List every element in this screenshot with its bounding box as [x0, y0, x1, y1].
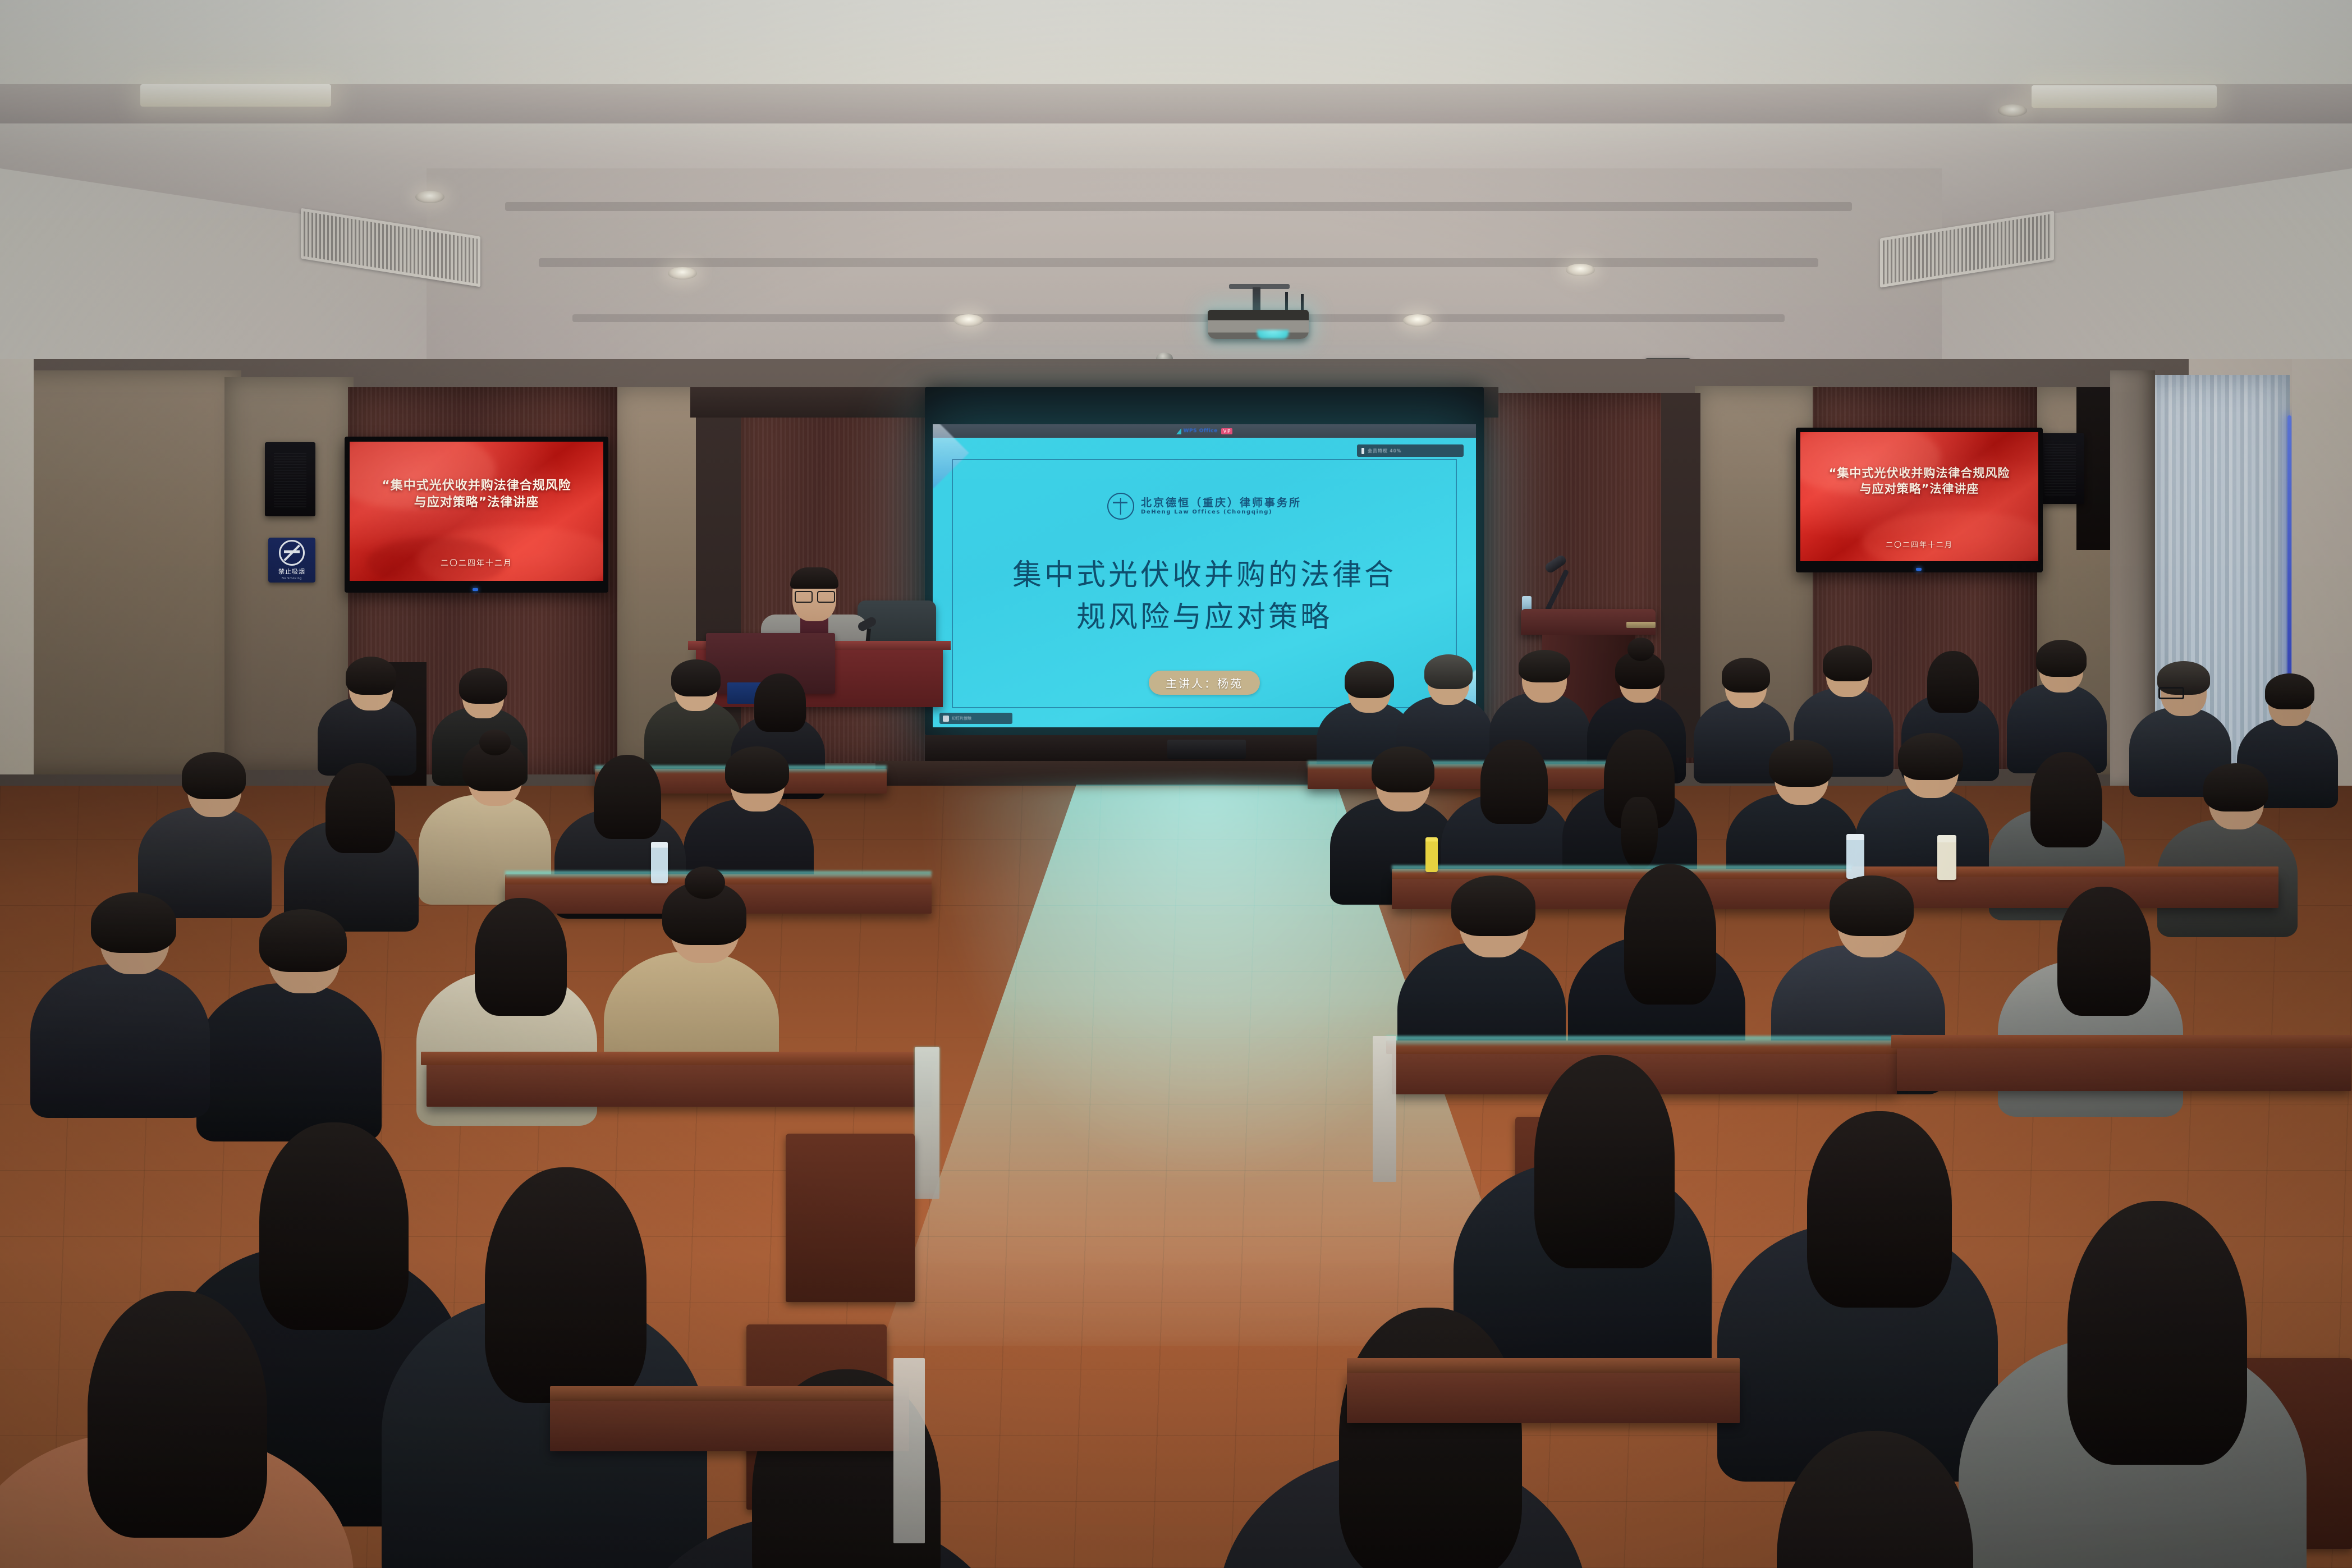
ceiling-recess-line [572, 314, 1785, 322]
ceiling-band [0, 84, 2352, 123]
person-hair [346, 657, 396, 695]
wps-logo: WPS Office [1176, 428, 1218, 434]
person-hair [2203, 763, 2268, 811]
person-hair-bun [479, 730, 511, 755]
person-hair [475, 898, 567, 1016]
person-hair [1823, 645, 1872, 681]
wall-speaker-left [265, 442, 315, 516]
sign-label-en: No Smoking [282, 577, 302, 580]
person-hair [754, 673, 806, 732]
led-strip-light [2287, 415, 2291, 685]
person-hair [1345, 661, 1394, 698]
person-hair [2030, 752, 2102, 847]
ceiling-recess-line [505, 202, 1852, 211]
slide-notification-tooltip[interactable]: 会员特权 40% [1357, 444, 1464, 457]
tv-right: “集中式光伏收并购法律合规风险 与应对策略”法律讲座 二〇二四年十二月 [1796, 428, 2043, 572]
drink-bottle [1937, 835, 1956, 880]
bench-light-edge [1386, 1036, 1902, 1045]
wall-gap-dark [1661, 393, 1700, 758]
person-shoulders [30, 964, 210, 1118]
ceiling-light-panel-right [2032, 85, 2217, 108]
downlight [1566, 264, 1595, 276]
wps-triangle-icon [1176, 428, 1181, 434]
presenter-hair [790, 567, 838, 589]
bench-desk-near-left [427, 1061, 932, 1107]
person-hair [325, 763, 395, 853]
wps-app-label: WPS Office [1184, 428, 1218, 434]
person-hair [1722, 658, 1770, 693]
person-hair [1534, 1055, 1675, 1268]
no-smoking-icon [279, 540, 305, 566]
person-hair [725, 746, 789, 794]
person-hair [259, 1122, 409, 1330]
bench-desk-foreground-right [1347, 1373, 1740, 1423]
tv-right-title-line1: “集中式光伏收并购法律合规风险 [1810, 466, 2029, 482]
podium-nameplate [1626, 622, 1656, 628]
bench-desk-mid-far-right [1852, 873, 2278, 908]
downlight [1403, 314, 1432, 327]
slide-firm-logo: 北京德恒（重庆）律师事务所 DeHeng Law Offices (Chongq… [933, 493, 1476, 520]
person-hair [594, 755, 661, 839]
slideshow-label: 幻灯片放映 [952, 716, 971, 721]
person-hair [1624, 864, 1716, 1005]
tooltip-text: 会员特权 40% [1368, 448, 1401, 454]
ceiling-recess-line [539, 258, 1818, 267]
water-bottle [1846, 834, 1864, 879]
wall-stone-panel-far-left [0, 370, 241, 774]
tv-right-power-led [1916, 568, 1922, 571]
bench-end-panel [1373, 1036, 1396, 1182]
stage-speaker-cabinet [1167, 740, 1246, 759]
tv-left-banner-text: “集中式光伏收并购法律合规风险 与应对策略”法律讲座 [360, 478, 593, 510]
person-hair [88, 1291, 267, 1538]
water-bottle [651, 842, 668, 883]
tv-left-title-line1: “集中式光伏收并购法律合规风险 [360, 478, 593, 494]
left-wall-edge [0, 359, 34, 774]
person-hair-bun [685, 866, 725, 899]
tooltip-icon [1361, 448, 1364, 454]
person-hair [2036, 640, 2087, 677]
downlight [954, 314, 983, 327]
person-hair-grey [1424, 654, 1473, 689]
person-hair [91, 892, 176, 953]
person-hair [2265, 673, 2314, 709]
tv-left-screen: “集中式光伏收并购法律合规风险 与应对策略”法律讲座 二〇二四年十二月 [350, 442, 603, 581]
tv-left-power-led [473, 588, 478, 591]
person-hair-bun [1627, 638, 1654, 661]
tv-right-date: 二〇二四年十二月 [1800, 539, 2038, 549]
slide-app-toolbar[interactable]: WPS Office VIP [933, 424, 1476, 438]
tv-left-date: 二〇二四年十二月 [350, 557, 603, 568]
person-hair [1898, 733, 1963, 780]
person-hair [1451, 875, 1535, 936]
tv-left: “集中式光伏收并购法律合规风险 与应对策略”法律讲座 二〇二四年十二月 [345, 437, 608, 593]
bench-end-panel-foreground [893, 1358, 925, 1543]
chair-back-left [786, 1134, 915, 1302]
tv-right-banner-text: “集中式光伏收并购法律合规风险 与应对策略”法律讲座 [1810, 466, 2029, 497]
bench-desk-top [421, 1052, 937, 1065]
person-hair [259, 909, 347, 972]
person-hair [485, 1167, 647, 1403]
downlight [668, 267, 697, 279]
person-hair [459, 668, 507, 704]
highlighter-marker [1425, 837, 1438, 872]
wall-speaker-right [2036, 433, 2084, 504]
wps-vip-badge[interactable]: VIP [1221, 428, 1233, 434]
sign-label-cn: 禁止吸烟 [278, 567, 305, 576]
projection-screen: WPS Office VIP 会员特权 40% 北京德恒（重庆）律师事务所 De… [933, 424, 1476, 727]
slideshow-control-bar[interactable]: 幻灯片放映 [939, 713, 1012, 724]
downlight [415, 191, 444, 203]
person-hair [1927, 651, 1979, 713]
person-hair [1372, 746, 1434, 792]
firm-name-block: 北京德恒（重庆）律师事务所 DeHeng Law Offices (Chongq… [1141, 497, 1301, 516]
person-hair [182, 752, 246, 799]
tv-right-title-line2: 与应对策略”法律讲座 [1810, 482, 2029, 497]
person-hair [1519, 650, 1570, 682]
scales-of-justice-icon [1107, 493, 1134, 520]
eyeglasses-icon [2158, 687, 2184, 699]
bench-light-edge [1392, 865, 1852, 872]
slide-speaker-row: 主讲人：杨苑 [933, 671, 1476, 695]
ceiling-light-panel-left [140, 84, 331, 107]
person-hair [2067, 1201, 2247, 1465]
person-hair [1830, 875, 1914, 936]
firm-name-cn: 北京德恒（重庆）律师事务所 [1141, 497, 1301, 510]
bench-desk-near-far-right [1897, 1044, 2351, 1091]
person-hair [1480, 740, 1548, 824]
bench-desk-top [1852, 866, 2278, 877]
no-smoking-sign: 禁止吸烟 No Smoking [268, 538, 315, 583]
bench-desk-top [1891, 1035, 2352, 1048]
slide-title-line1: 集中式光伏收并购的法律合 [966, 554, 1442, 597]
tv-right-screen: “集中式光伏收并购法律合规风险 与应对策略”法律讲座 二〇二四年十二月 [1800, 432, 2038, 561]
presenter-glasses-icon [795, 591, 835, 600]
tv-left-title-line2: 与应对策略”法律讲座 [360, 494, 593, 511]
silk-highlight [1862, 511, 2038, 561]
person-hair [671, 659, 721, 696]
slideshow-play-icon[interactable] [943, 716, 949, 722]
conference-hall-photo: 禁止吸烟 No Smoking “集中式光伏收并购法律合规风险 与应对策略”法律… [0, 0, 2352, 1568]
firm-name-en: DeHeng Law Offices (Chongqing) [1141, 509, 1301, 515]
person-shoulders [196, 983, 382, 1141]
slide-title: 集中式光伏收并购的法律合 规风险与应对策略 [966, 554, 1442, 639]
person-hair [1807, 1111, 1952, 1308]
projector-lens [1257, 330, 1289, 339]
person-hair [1339, 1308, 1522, 1568]
downlight [1998, 104, 2027, 117]
speaker-name-badge: 主讲人：杨苑 [1149, 671, 1260, 695]
person-hair [1769, 740, 1833, 787]
person-ponytail [1621, 797, 1658, 870]
bench-end-panel [915, 1047, 939, 1199]
slide-title-line2: 规风险与应对策略 [966, 597, 1442, 639]
bench-desk-foreground-left [550, 1401, 909, 1451]
person-hair [2057, 887, 2151, 1016]
